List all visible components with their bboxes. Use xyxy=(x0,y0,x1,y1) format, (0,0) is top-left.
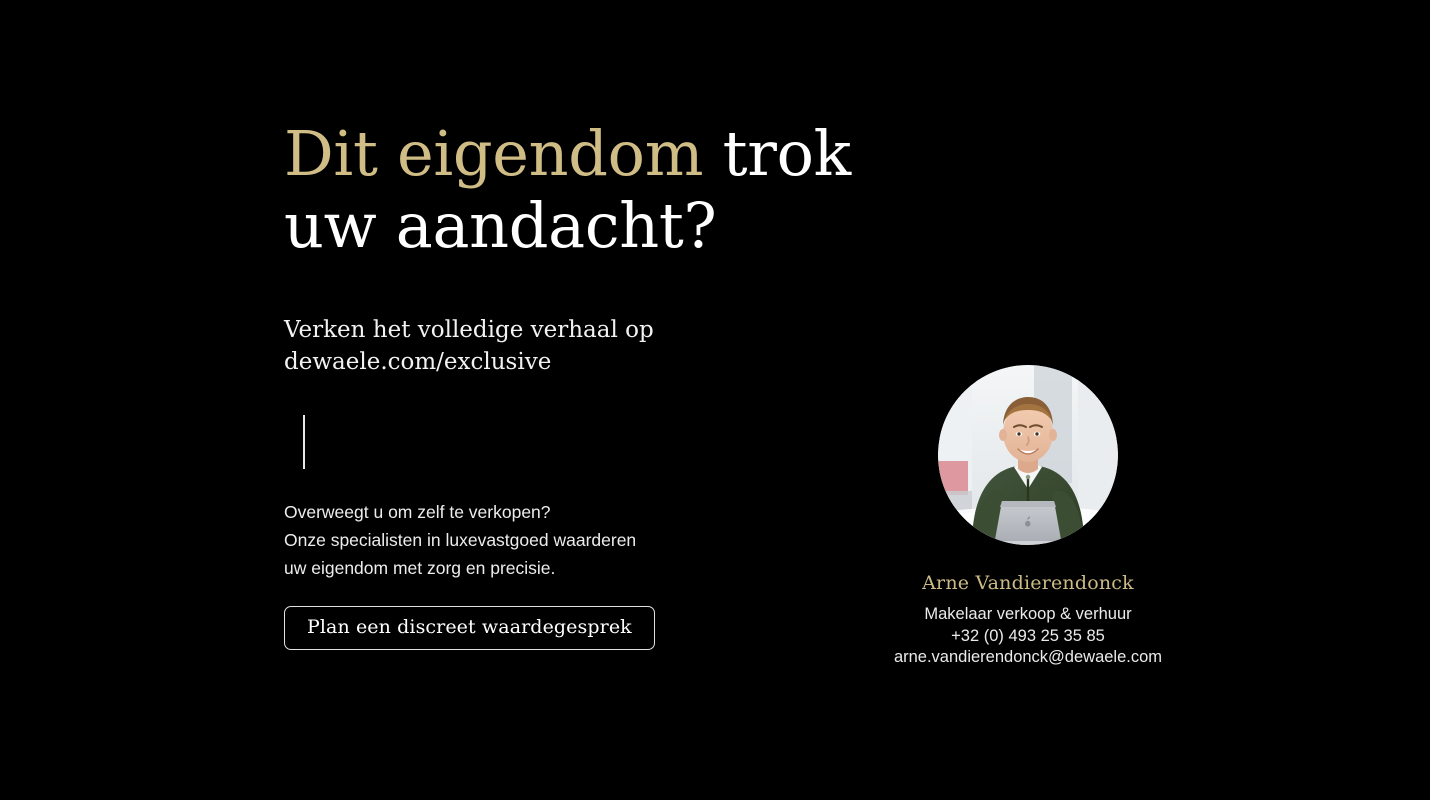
agent-name: Arne Vandierendonck xyxy=(858,571,1198,595)
vertical-divider xyxy=(303,415,305,469)
agent-phone[interactable]: +32 (0) 493 25 35 85 xyxy=(858,626,1198,648)
headline-accent: Dit eigendom xyxy=(284,117,703,190)
schedule-valuation-button[interactable]: Plan een discreet waardegesprek xyxy=(284,606,655,650)
agent-portrait-image xyxy=(938,365,1118,545)
page-title: Dit eigendom trok uw aandacht? xyxy=(284,118,884,262)
agent-email[interactable]: arne.vandierendonck@dewaele.com xyxy=(858,647,1198,669)
page-background: Dit eigendom trok uw aandacht? Verken he… xyxy=(0,0,1430,800)
avatar xyxy=(938,365,1118,545)
agent-card: Arne Vandierendonck Makelaar verkoop & v… xyxy=(858,365,1198,669)
hero-text-block: Dit eigendom trok uw aandacht? xyxy=(284,118,884,262)
hero-body-copy: Overweegt u om zelf te verkopen? Onze sp… xyxy=(284,498,804,582)
hero-subtitle: Verken het volledige verhaal op dewaele.… xyxy=(284,314,804,378)
agent-role: Makelaar verkoop & verhuur xyxy=(858,604,1198,626)
